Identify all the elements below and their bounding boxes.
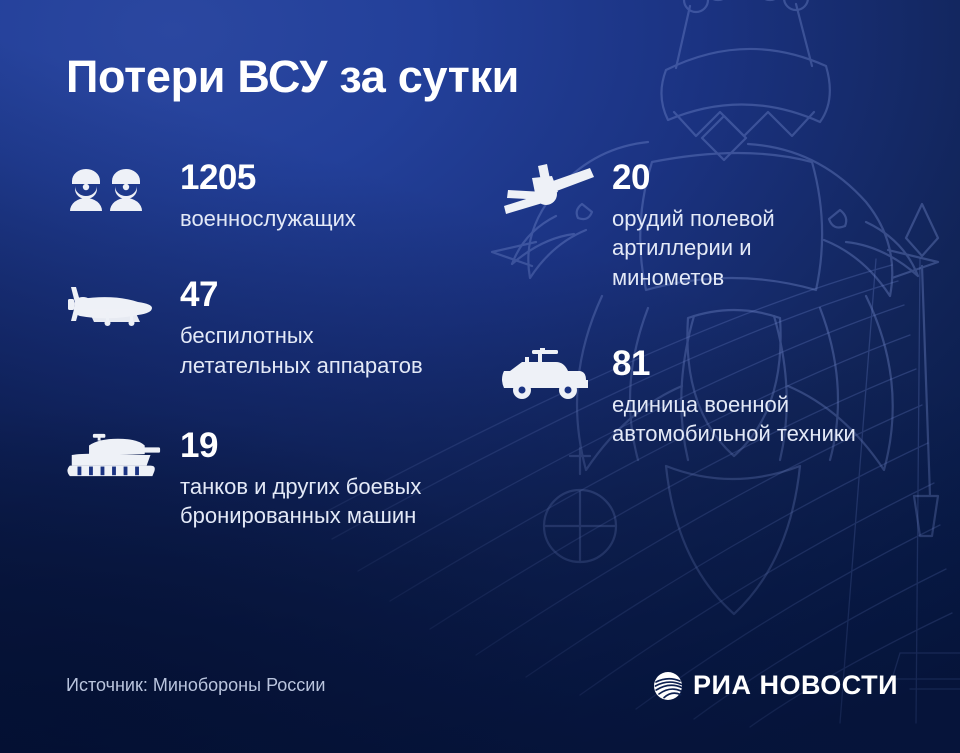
stat-item-vehicles: 81 единица военной автомобильной техники [498, 346, 898, 449]
military-vehicle-icon [498, 346, 594, 402]
brand-name: РИА НОВОСТИ [693, 670, 898, 701]
stat-value: 1205 [180, 160, 466, 195]
stat-label: беспилотных летательных аппаратов [180, 321, 430, 380]
stat-label: танков и других боевых бронированных маш… [180, 472, 430, 531]
artillery-gun-icon [498, 160, 594, 216]
stat-value: 47 [180, 277, 466, 312]
stat-label: военнослужащих [180, 204, 430, 233]
stat-label: единица военной автомобильной техники [612, 390, 857, 449]
soldiers-icon [66, 160, 162, 216]
source-text: Источник: Минобороны России [66, 675, 325, 696]
stat-value: 19 [180, 428, 466, 463]
stat-value: 81 [612, 346, 898, 381]
stat-item-personnel: 1205 военнослужащих [66, 160, 466, 233]
drone-icon [66, 277, 162, 333]
brand-logo: РИА НОВОСТИ [653, 670, 898, 701]
ria-sphere-logo-icon [653, 671, 683, 701]
infographic-poster: Потери ВСУ за сутки [0, 0, 960, 753]
page-title: Потери ВСУ за сутки [66, 52, 519, 102]
stats-column-right: 20 орудий полевой артиллерии и минометов [498, 160, 898, 448]
footer: Источник: Минобороны России РИА [66, 670, 898, 701]
stat-item-tanks: 19 танков и других боевых бронированных … [66, 428, 466, 531]
stat-label: орудий полевой артиллерии и минометов [612, 204, 857, 292]
stat-value: 20 [612, 160, 898, 195]
tank-icon [66, 428, 162, 484]
stats-column-left: 1205 военнослужащих [66, 160, 466, 530]
stat-item-artillery: 20 орудий полевой артиллерии и минометов [498, 160, 898, 292]
stat-item-uav: 47 беспилотных летательных аппаратов [66, 277, 466, 380]
